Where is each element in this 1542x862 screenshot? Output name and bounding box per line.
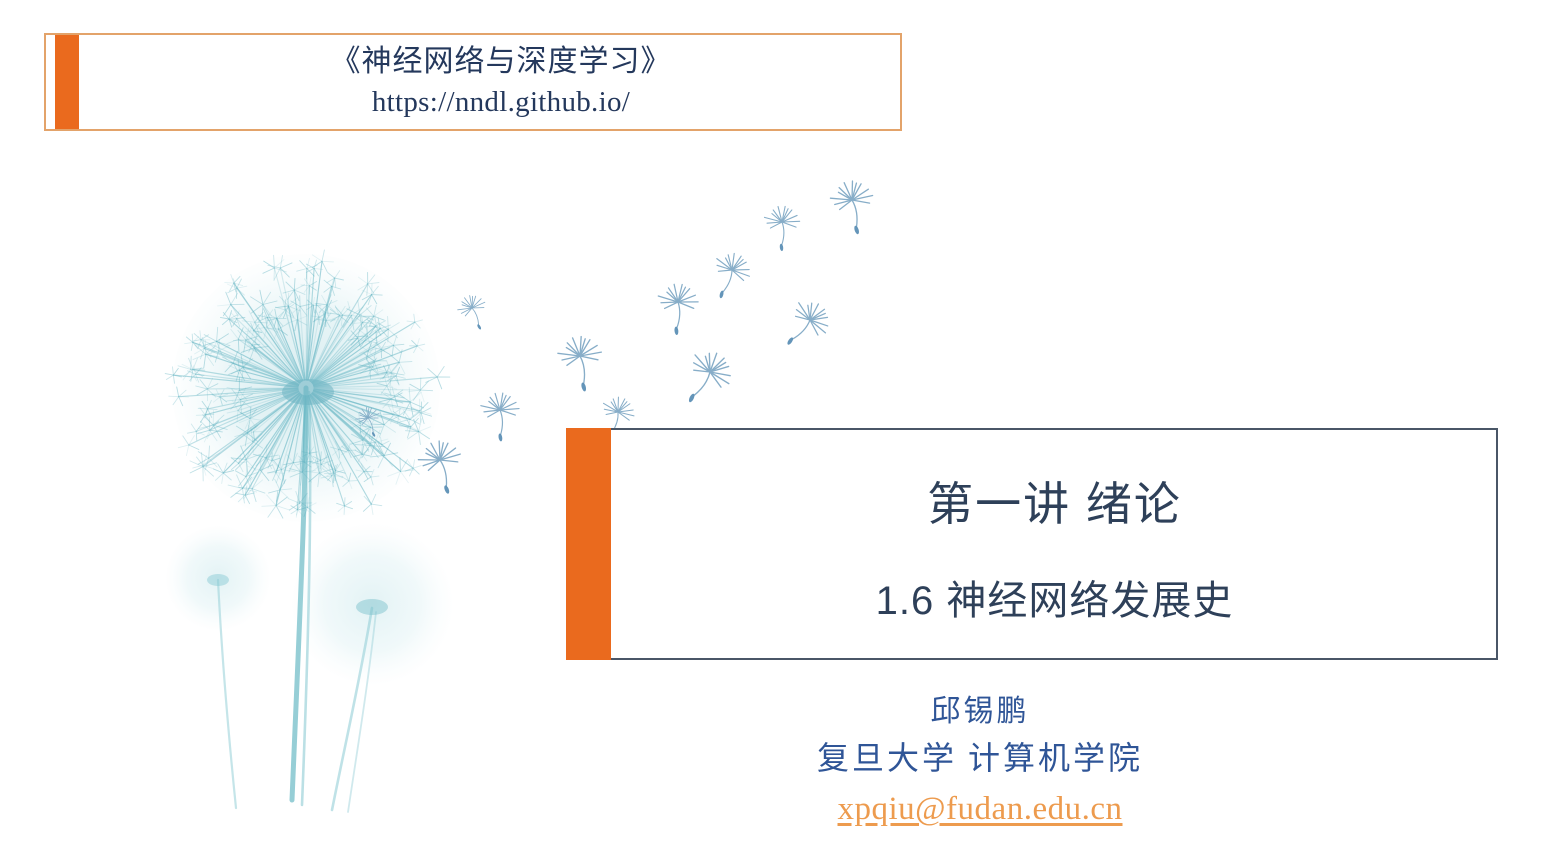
author-affiliation: 复旦大学 计算机学院 [817, 734, 1143, 782]
dandelion-bloom-small [166, 526, 270, 630]
page-subtitle: 1.6 神经网络发展史 [876, 573, 1234, 629]
page-title: 第一讲 绪论 [927, 473, 1182, 535]
dandelion-bloom-large [165, 250, 450, 522]
author-name: 邱锡鹏 [931, 690, 1030, 734]
title-text-block: 第一讲 绪论 1.6 神经网络发展史 [613, 430, 1496, 658]
dandelion-bloom-medium [292, 524, 452, 684]
header-accent-bar [55, 35, 79, 129]
author-block: 邱锡鹏 复旦大学 计算机学院 xpqiu@fudan.edu.cn [620, 690, 1340, 832]
title-box: 第一讲 绪论 1.6 神经网络发展史 [566, 428, 1498, 660]
header-banner: 《神经网络与深度学习》 https://nndl.github.io/ [44, 33, 902, 131]
slide-canvas: 《神经网络与深度学习》 https://nndl.github.io/ [0, 0, 1542, 862]
book-title: 《神经网络与深度学习》 [331, 42, 672, 82]
title-accent-bar [566, 428, 611, 660]
header-text-block: 《神经网络与深度学习》 https://nndl.github.io/ [106, 35, 896, 129]
book-url[interactable]: https://nndl.github.io/ [372, 82, 630, 122]
author-email-link[interactable]: xpqiu@fudan.edu.cn [838, 786, 1123, 832]
